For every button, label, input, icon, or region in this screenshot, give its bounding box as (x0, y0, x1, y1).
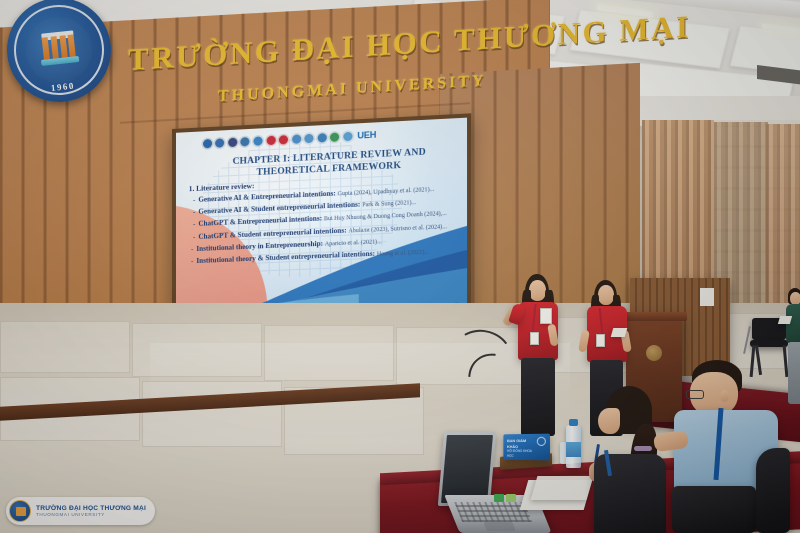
paper-notes (611, 328, 628, 337)
podium-emblem-icon (646, 345, 662, 361)
partner-logo-icon (252, 135, 263, 147)
ear (720, 390, 729, 402)
paper-notes (778, 316, 792, 324)
partner-logo-icon (214, 137, 225, 149)
bullet-dash: - (191, 245, 193, 254)
bullet-citation: Bui Huy Nhuong & Duong Cong Doanh (2024)… (324, 211, 447, 223)
presentation-slide: UEH CHAPTER I: LITERATURE REVIEW AND THE… (176, 118, 467, 329)
notice-paper (700, 288, 714, 306)
partner-logo-icon (304, 133, 315, 145)
watermark-logo-icon (9, 500, 31, 522)
ueh-logo-text: UEH (357, 130, 376, 141)
laptop-sticker (494, 494, 504, 502)
bullet-dash: - (193, 220, 195, 229)
projection-screen-frame: UEH CHAPTER I: LITERATURE REVIEW AND THE… (172, 113, 471, 333)
name-card (540, 308, 552, 324)
plate-logo-icon (537, 437, 546, 446)
plate-text: BAN GIÁM KHẢO HỘI ĐỒNG KHOA HỌC (507, 438, 536, 458)
backpack-strap (756, 448, 790, 533)
badge (596, 334, 605, 347)
watermark-badge: TRƯỜNG ĐẠI HỌC THƯƠNG MẠI THUONGMAI UNIV… (6, 497, 155, 525)
partner-logo-icon (342, 131, 353, 143)
bullet-citation: Abulали (2023), Sutrisno et al. (2024)..… (348, 224, 446, 234)
bullet-dash: - (193, 196, 195, 205)
eyeglasses (686, 390, 704, 399)
backpack (672, 486, 756, 533)
watermark-line1: TRƯỜNG ĐẠI HỌC THƯƠNG MẠI (36, 505, 146, 512)
audience-woman-seated (592, 386, 678, 533)
partner-logo-icon (316, 132, 327, 144)
bottle-cap (569, 419, 577, 426)
partner-logo-icon (227, 136, 238, 148)
pants (521, 358, 555, 436)
laptop-sticker (506, 494, 516, 502)
papers-on-table (531, 476, 594, 500)
hair-tie (634, 446, 652, 451)
partner-logo-icon (202, 138, 213, 150)
bullet-dash: - (193, 208, 195, 217)
bottle-label (566, 442, 581, 457)
bullet-citation: Aparicio et al. (2021)... (325, 239, 382, 247)
partner-logo-icon (291, 133, 302, 145)
partner-logo-icon (329, 131, 340, 143)
emblem-building-icon (39, 30, 78, 66)
presenter-speaking (505, 274, 567, 439)
bullet-citation: Gupta (2024), Upadhyay et al. (2021)... (338, 187, 435, 198)
bullet-dash: - (191, 258, 193, 267)
torso-black-top (594, 454, 666, 533)
name-plate: BAN GIÁM KHẢO HỘI ĐỒNG KHOA HỌC (503, 434, 550, 461)
conference-room-photo: TRƯỜNG ĐẠI HỌC THƯƠNG MẠI THUONGMAI UNIV… (0, 0, 800, 533)
torso-green-top (786, 304, 800, 344)
head (598, 408, 620, 434)
bullet-label: Institutional theory in Entrepreneurship… (196, 240, 323, 253)
watermark-line2: THUONGMAI UNIVERSITY (36, 512, 146, 517)
bullet-label: ChatGPT & Entrepreneurial intentions: (198, 215, 322, 229)
bullet-dash: - (193, 233, 195, 242)
bullet-citation: Park & Sung (2021)... (362, 200, 416, 209)
head (529, 280, 546, 301)
bullet-citation: Hoang et al. (2021)... (377, 250, 429, 258)
slide-bullet-list: - Generative AI & Entrepreneurial intent… (193, 183, 458, 270)
laptop-screen (441, 435, 493, 503)
partner-logo-icon (240, 136, 251, 148)
partner-logo-icon (278, 134, 289, 146)
partner-logo-icon (265, 134, 276, 146)
head (598, 285, 614, 305)
badge (530, 332, 539, 345)
laptop-trackpad[interactable] (483, 522, 516, 530)
water-bottle (566, 425, 581, 468)
